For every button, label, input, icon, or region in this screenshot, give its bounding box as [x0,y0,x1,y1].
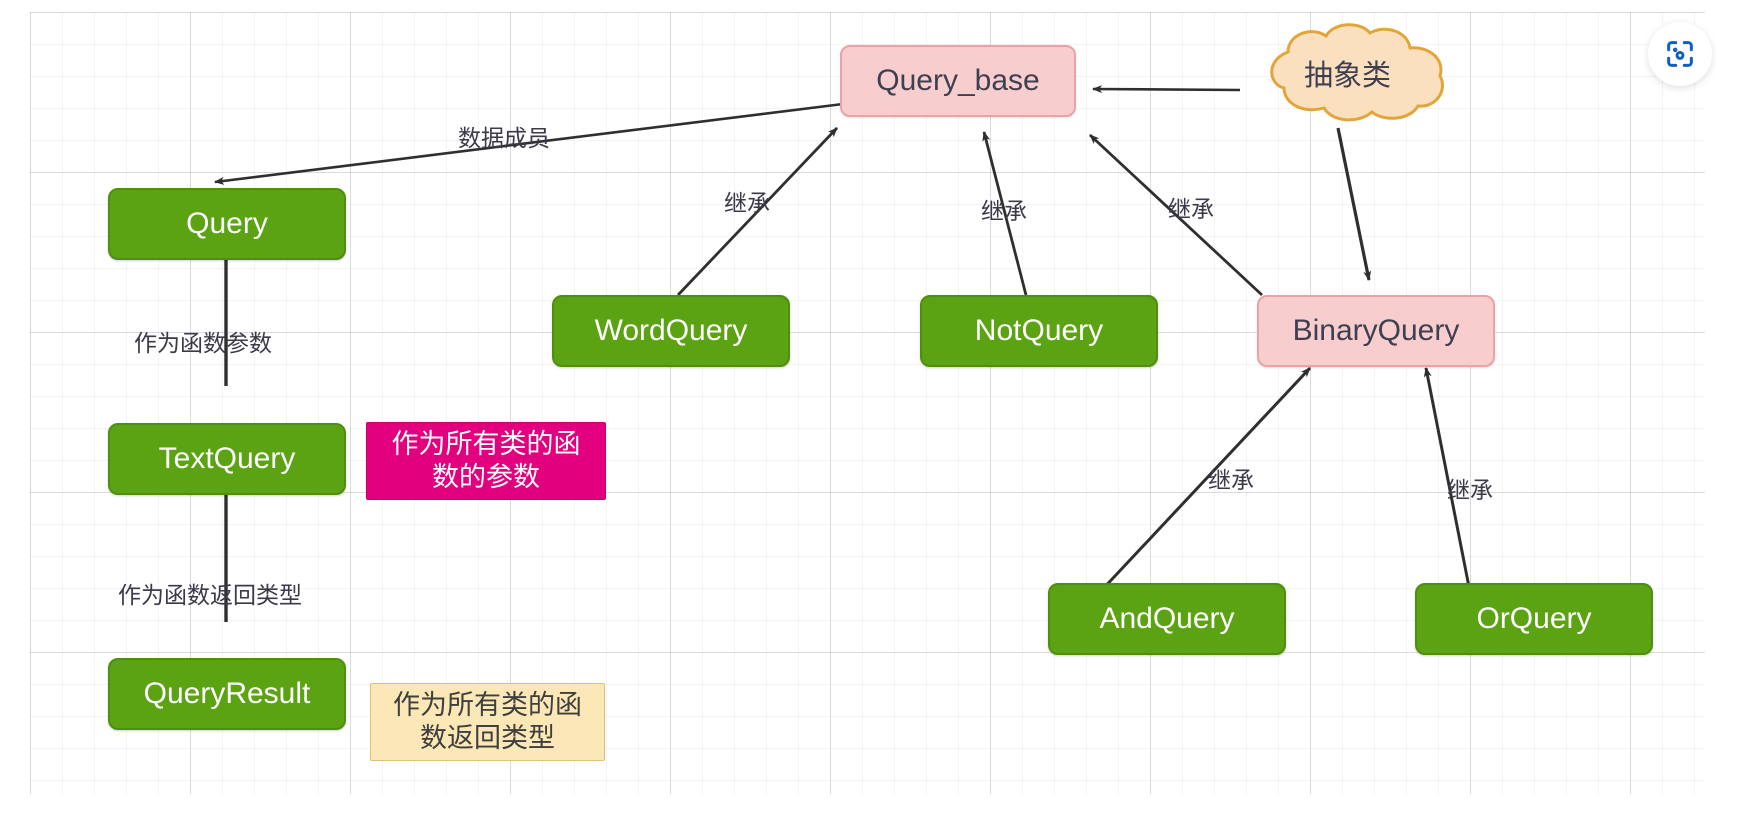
edge-label-inherit-binary-text: 继承 [1168,196,1214,222]
sticky-yellow-line1: 作为所有类的函 [393,689,582,722]
diagram-canvas[interactable]: Query TextQuery QueryResult WordQuery No… [0,0,1739,814]
node-orquery[interactable]: OrQuery [1415,583,1653,655]
edge-label-inherit-andquery-text: 继承 [1208,467,1254,493]
edge-andquery-to-binaryquery [1100,368,1310,592]
node-wordquery-label: WordQuery [595,314,748,349]
edge-label-as-func-return: 作为函数返回类型 [118,576,302,610]
node-textquery[interactable]: TextQuery [108,423,346,495]
edge-label-inherit-andquery: 继承 [1208,461,1254,495]
node-wordquery[interactable]: WordQuery [552,295,790,367]
node-andquery[interactable]: AndQuery [1048,583,1286,655]
edge-cloud-to-querybase [1093,89,1240,90]
sticky-magenta-line2: 数的参数 [432,461,540,494]
scan-capture-button[interactable] [1648,22,1712,86]
edge-label-inherit-wordquery-text: 继承 [724,190,770,216]
node-notquery-label: NotQuery [975,314,1103,349]
node-query-base[interactable]: Query_base [840,45,1076,117]
edge-cloud-to-binaryquery [1338,128,1369,280]
node-binaryquery[interactable]: BinaryQuery [1257,295,1495,367]
edge-label-inherit-binary: 继承 [1168,190,1214,224]
node-queryresult-label: QueryResult [144,677,311,712]
node-notquery[interactable]: NotQuery [920,295,1158,367]
edge-label-inherit-orquery: 继承 [1447,471,1493,505]
edge-label-as-func-param-text: 作为函数参数 [134,330,272,356]
edge-label-inherit-notquery-text: 继承 [981,198,1027,224]
scan-capture-icon [1663,37,1697,71]
cloud-label: 抽象类 [1304,52,1391,94]
node-query-label: Query [186,207,268,242]
edge-label-as-func-return-text: 作为函数返回类型 [118,582,302,608]
edge-label-data-member-text: 数据成员 [458,125,550,151]
node-query-base-label: Query_base [876,64,1039,99]
sticky-note-yellow[interactable]: 作为所有类的函 数返回类型 [370,683,605,761]
edge-label-inherit-notquery: 继承 [981,192,1027,226]
canvas-top-margin [0,0,1739,12]
canvas-right-margin [1705,0,1739,814]
node-andquery-label: AndQuery [1099,602,1234,637]
node-query[interactable]: Query [108,188,346,260]
sticky-yellow-line2: 数返回类型 [420,722,555,755]
edge-label-inherit-wordquery: 继承 [724,184,770,218]
node-orquery-label: OrQuery [1476,602,1591,637]
sticky-note-magenta[interactable]: 作为所有类的函 数的参数 [366,422,606,500]
node-textquery-label: TextQuery [159,442,296,477]
node-binaryquery-label: BinaryQuery [1293,314,1460,349]
abstract-class-cloud[interactable]: 抽象类 [1240,20,1455,125]
edge-label-data-member: 数据成员 [458,119,550,153]
edge-label-as-func-param: 作为函数参数 [134,324,272,358]
node-queryresult[interactable]: QueryResult [108,658,346,730]
canvas-left-margin [0,0,30,814]
sticky-magenta-line1: 作为所有类的函 [392,428,581,461]
edge-label-inherit-orquery-text: 继承 [1447,477,1493,503]
canvas-bottom-margin [0,794,1739,814]
